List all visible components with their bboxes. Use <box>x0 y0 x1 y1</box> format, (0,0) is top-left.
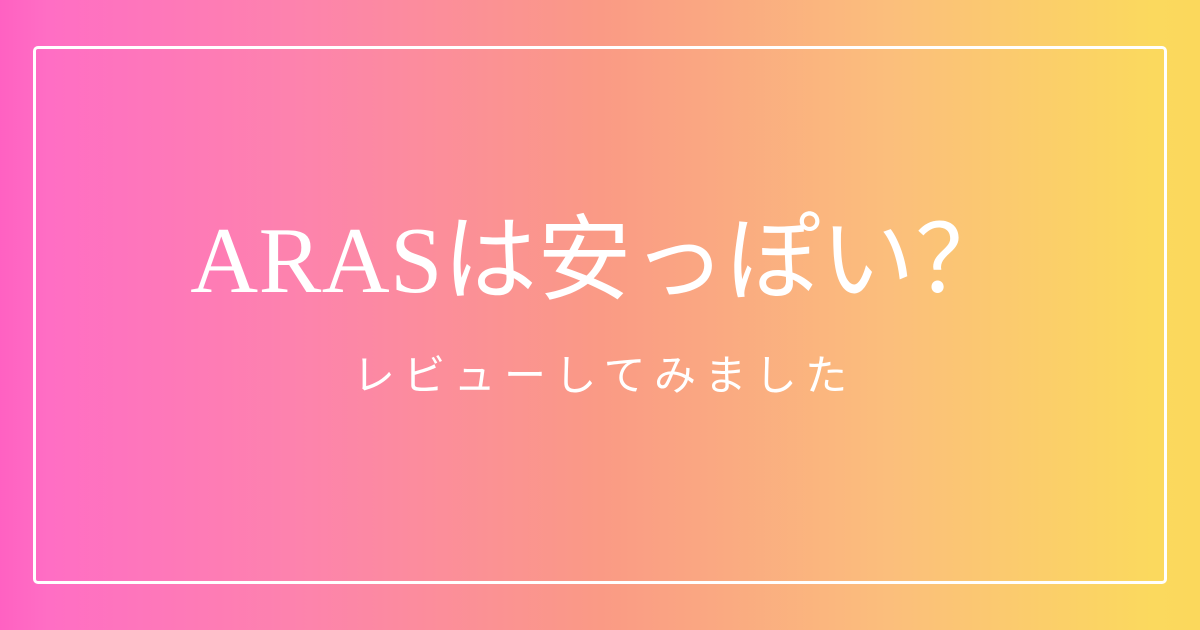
banner-content: ARASは安っぽい？ レビューしてみました <box>0 0 1200 630</box>
banner-card: ARASは安っぽい？ レビューしてみました <box>0 0 1200 630</box>
banner-title: ARASは安っぽい？ <box>190 211 1009 313</box>
banner-subtitle: レビューしてみました <box>344 350 855 405</box>
